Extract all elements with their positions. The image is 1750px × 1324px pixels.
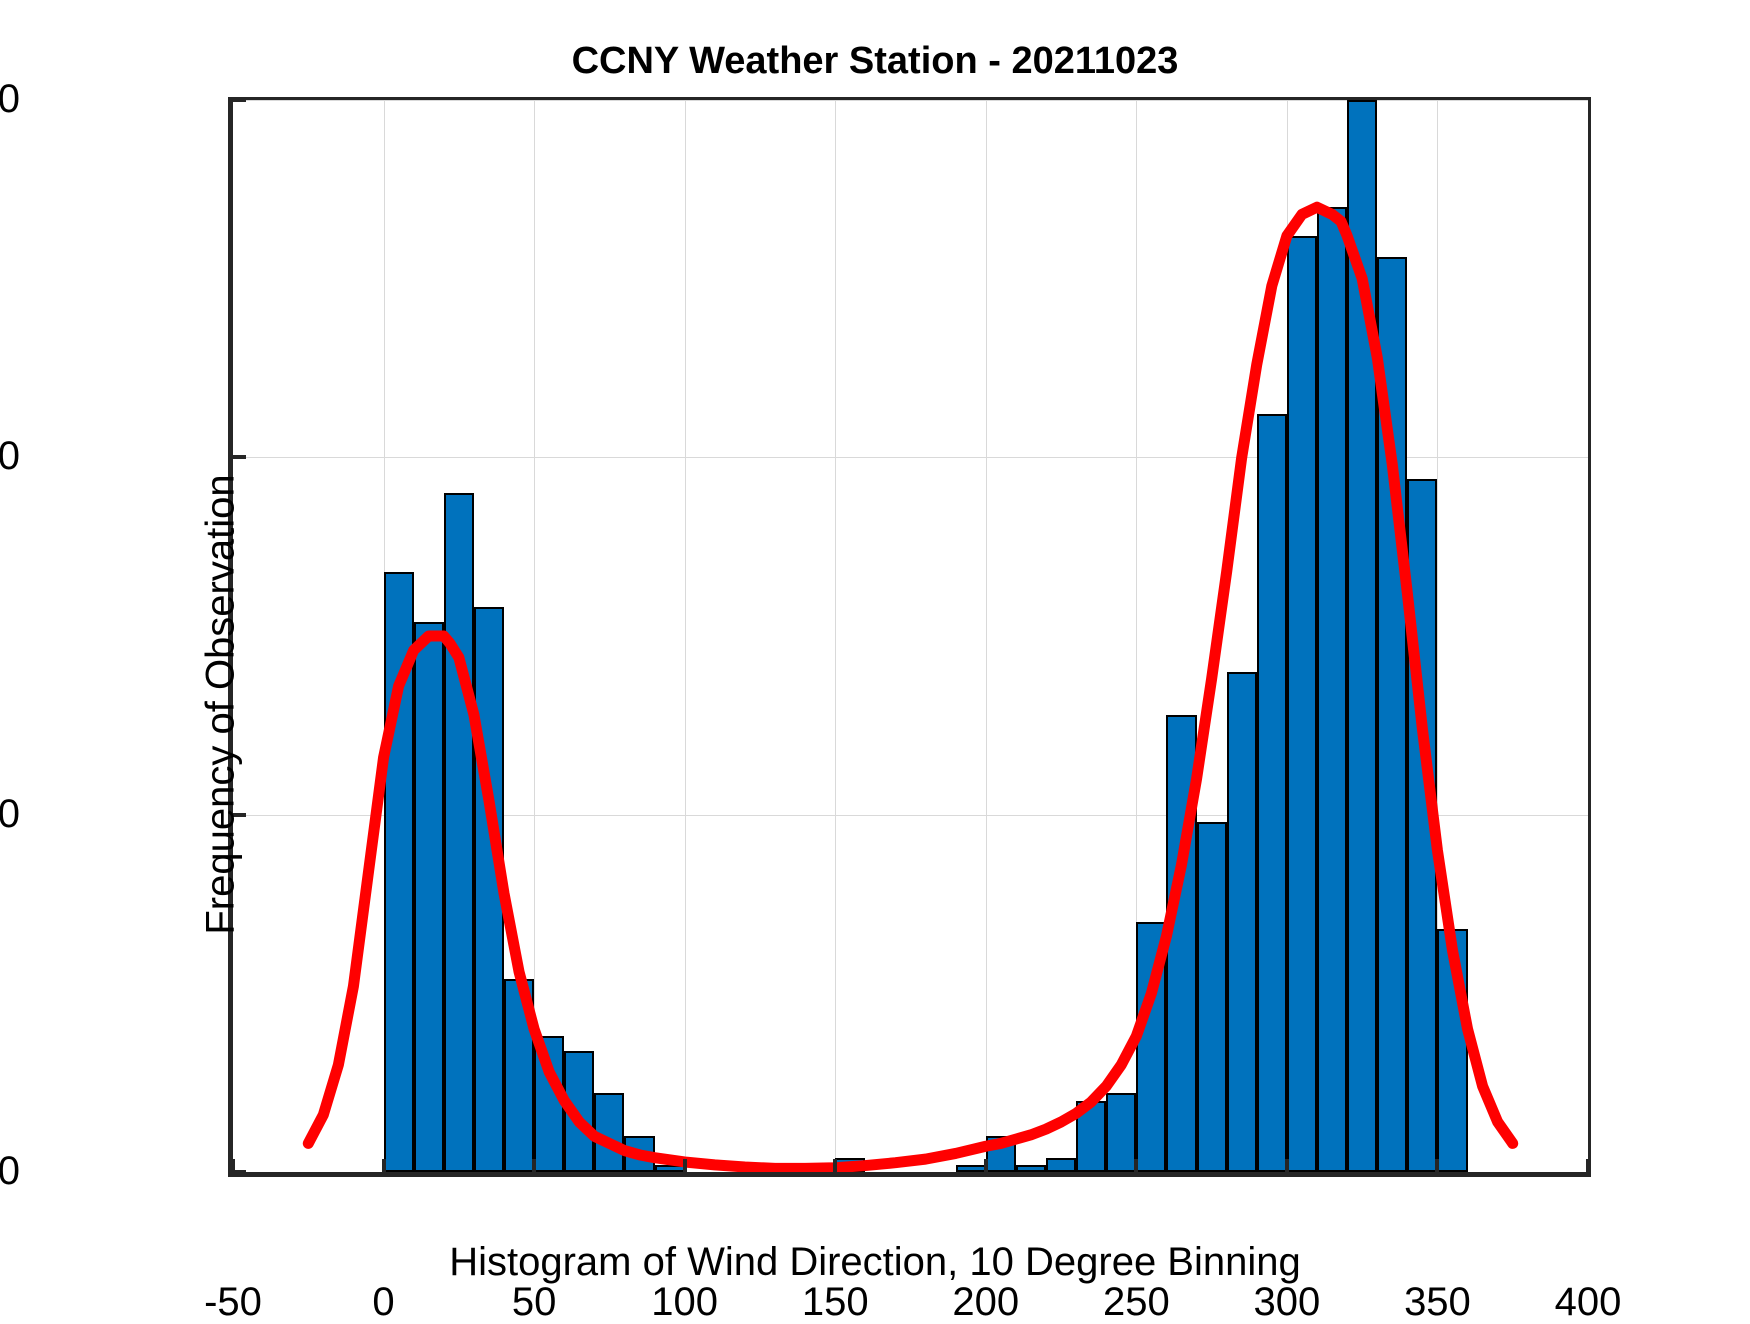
histogram-bar	[1347, 100, 1377, 1172]
histogram-bar	[1257, 414, 1287, 1172]
histogram-bar	[534, 1036, 564, 1172]
x-axis-label: Histogram of Wind Direction, 10 Degree B…	[0, 1240, 1750, 1285]
histogram-bar	[444, 493, 474, 1172]
histogram-bar	[414, 622, 444, 1172]
histogram-bar	[624, 1136, 654, 1172]
histogram-bar	[474, 607, 504, 1172]
gridline-vertical	[685, 100, 686, 1172]
x-tick-mark	[1435, 1159, 1439, 1173]
chart-title: CCNY Weather Station - 20211023	[0, 40, 1750, 83]
histogram-bar	[384, 572, 414, 1172]
histogram-bar	[956, 1165, 986, 1172]
chart-figure: CCNY Weather Station - 20211023 05010015…	[0, 0, 1750, 1313]
y-tick-label: 150	[0, 79, 20, 119]
histogram-bar	[655, 1165, 685, 1172]
x-tick-mark	[683, 1159, 687, 1173]
histogram-bar	[1016, 1165, 1046, 1172]
histogram-bar	[1106, 1093, 1136, 1172]
gridline-horizontal	[233, 100, 1588, 101]
gridline-vertical	[986, 100, 987, 1172]
y-tick-label: 0	[0, 1151, 20, 1191]
histogram-bar	[986, 1136, 1016, 1172]
histogram-bar	[835, 1158, 865, 1172]
y-tick-label: 100	[0, 436, 20, 476]
histogram-bar	[1437, 929, 1467, 1172]
histogram-bar	[1197, 822, 1227, 1172]
gridline-vertical	[835, 100, 836, 1172]
histogram-bar	[1046, 1158, 1076, 1172]
histogram-bar	[564, 1051, 594, 1172]
x-tick-mark	[1586, 1159, 1590, 1173]
plot-area: 050100150 -50050100150200250300350400 Fr…	[228, 97, 1591, 1177]
histogram-bar	[1407, 479, 1437, 1172]
histogram-bar	[1136, 922, 1166, 1172]
histogram-bar	[1166, 715, 1196, 1172]
histogram-bar	[1317, 207, 1347, 1172]
y-tick-mark	[232, 98, 246, 102]
histogram-bar	[1287, 236, 1317, 1172]
plot-inner	[233, 100, 1588, 1172]
histogram-bar	[594, 1093, 624, 1172]
x-tick-mark	[1134, 1159, 1138, 1173]
histogram-bar	[504, 979, 534, 1172]
x-tick-mark	[984, 1159, 988, 1173]
x-tick-mark	[382, 1159, 386, 1173]
gridline-vertical	[534, 100, 535, 1172]
histogram-bar	[1076, 1101, 1106, 1172]
x-tick-mark	[532, 1159, 536, 1173]
y-axis-label: Frequency of Observation	[199, 155, 244, 1255]
x-tick-mark	[833, 1159, 837, 1173]
y-tick-label: 50	[0, 794, 20, 834]
histogram-bar	[1377, 257, 1407, 1172]
x-tick-label: 400	[1488, 1282, 1688, 1322]
x-tick-mark	[1285, 1159, 1289, 1173]
histogram-bar	[1227, 672, 1257, 1172]
